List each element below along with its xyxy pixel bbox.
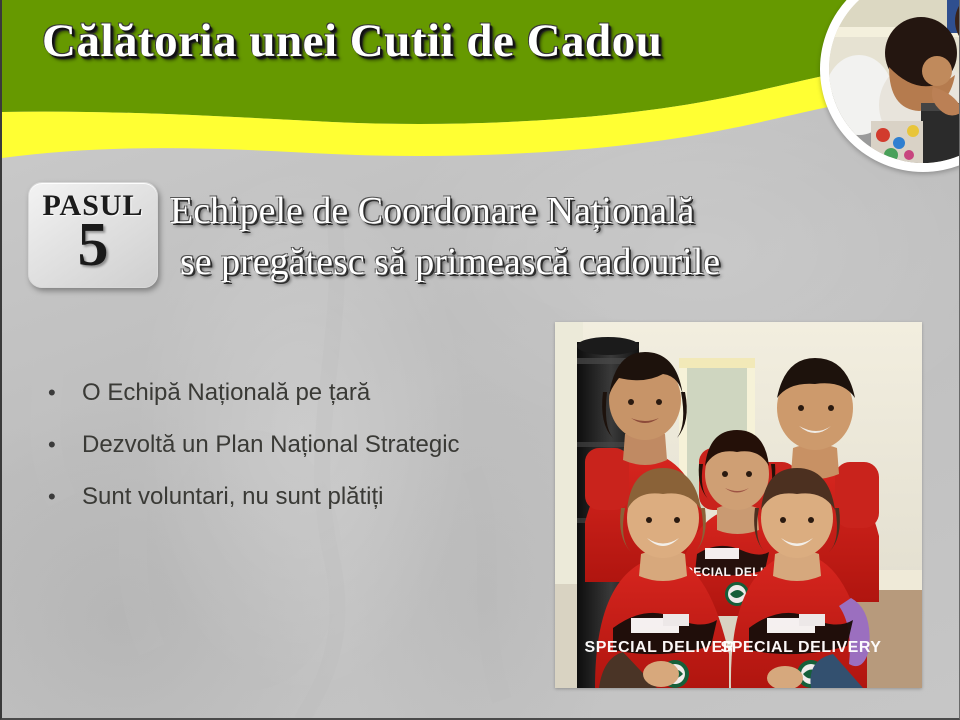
step-badge: PASUL 5 (28, 182, 158, 288)
list-item-label: Dezvoltă un Plan Național Strategic (82, 430, 460, 460)
slide-title: Călătoria unei Cutii de Cadou (42, 14, 832, 68)
bullet-dot-icon: • (48, 430, 82, 460)
slide-heading-line-2: se pregătesc să primească cadourile (170, 237, 890, 288)
children-gift-boxes-photo (829, 0, 960, 163)
list-item-label: O Echipă Națională pe țară (82, 378, 370, 408)
slide-heading: Echipele de Coordonare Națională se preg… (170, 186, 890, 287)
step-badge-number: 5 (29, 214, 157, 276)
slide-heading-line-1: Echipele de Coordonare Națională (170, 186, 890, 237)
list-item-label: Sunt voluntari, nu sunt plătiți (82, 482, 384, 512)
bullet-dot-icon: • (48, 482, 82, 512)
presentation-slide: Călătoria unei Cutii de Cadou (0, 0, 960, 720)
list-item: • O Echipă Națională pe țară (48, 378, 548, 408)
list-item: • Sunt voluntari, nu sunt plătiți (48, 482, 548, 512)
svg-text:SPECIAL DELIVERY: SPECIAL DELIVERY (721, 639, 882, 656)
bullet-dot-icon: • (48, 378, 82, 408)
list-item: • Dezvoltă un Plan Național Strategic (48, 430, 548, 460)
bullet-list: • O Echipă Națională pe țară • Dezvoltă … (48, 378, 548, 534)
volunteer-team-photo: SPECIAL DELIVERY (555, 322, 922, 688)
